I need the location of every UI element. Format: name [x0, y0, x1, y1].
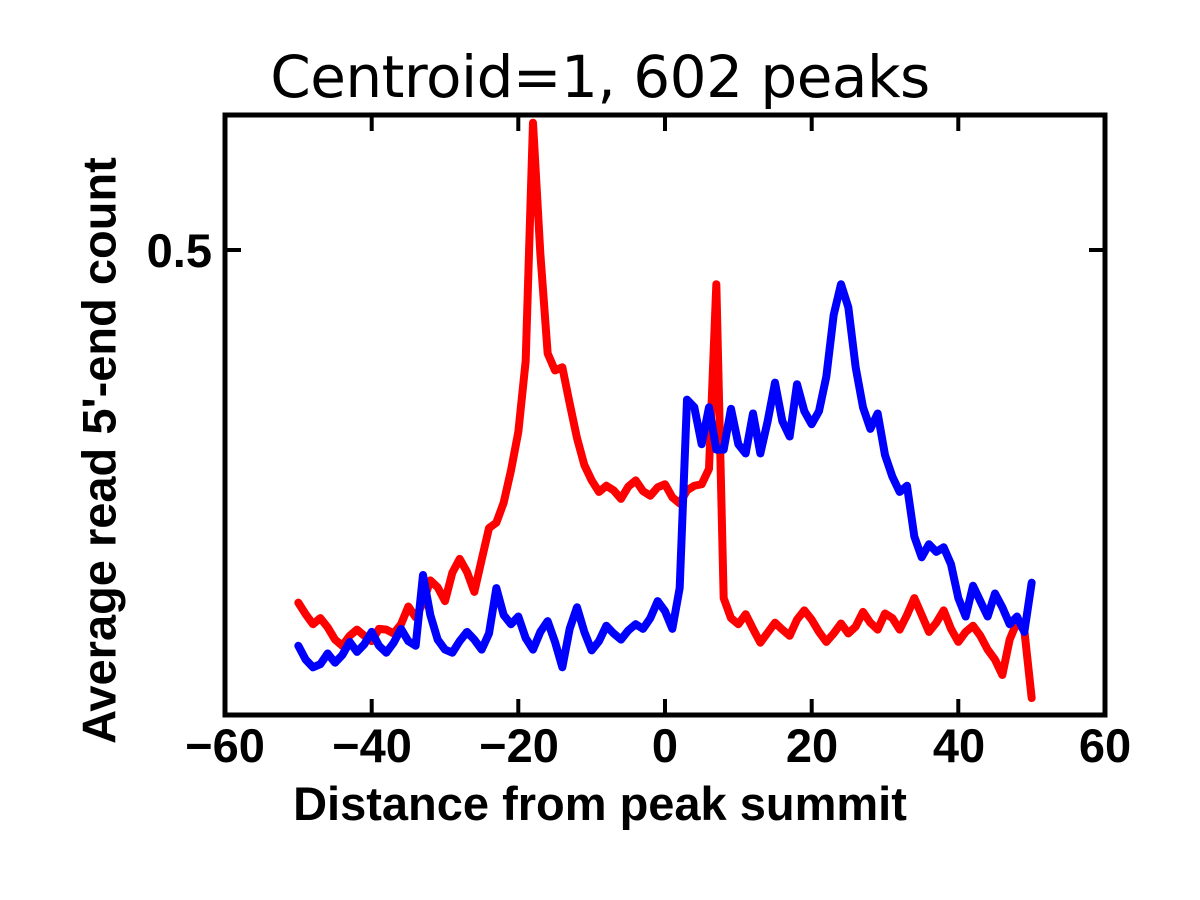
plot-area [0, 0, 1200, 900]
figure-canvas: Centroid=1, 602 peaks Average read 5'-en… [0, 0, 1200, 900]
